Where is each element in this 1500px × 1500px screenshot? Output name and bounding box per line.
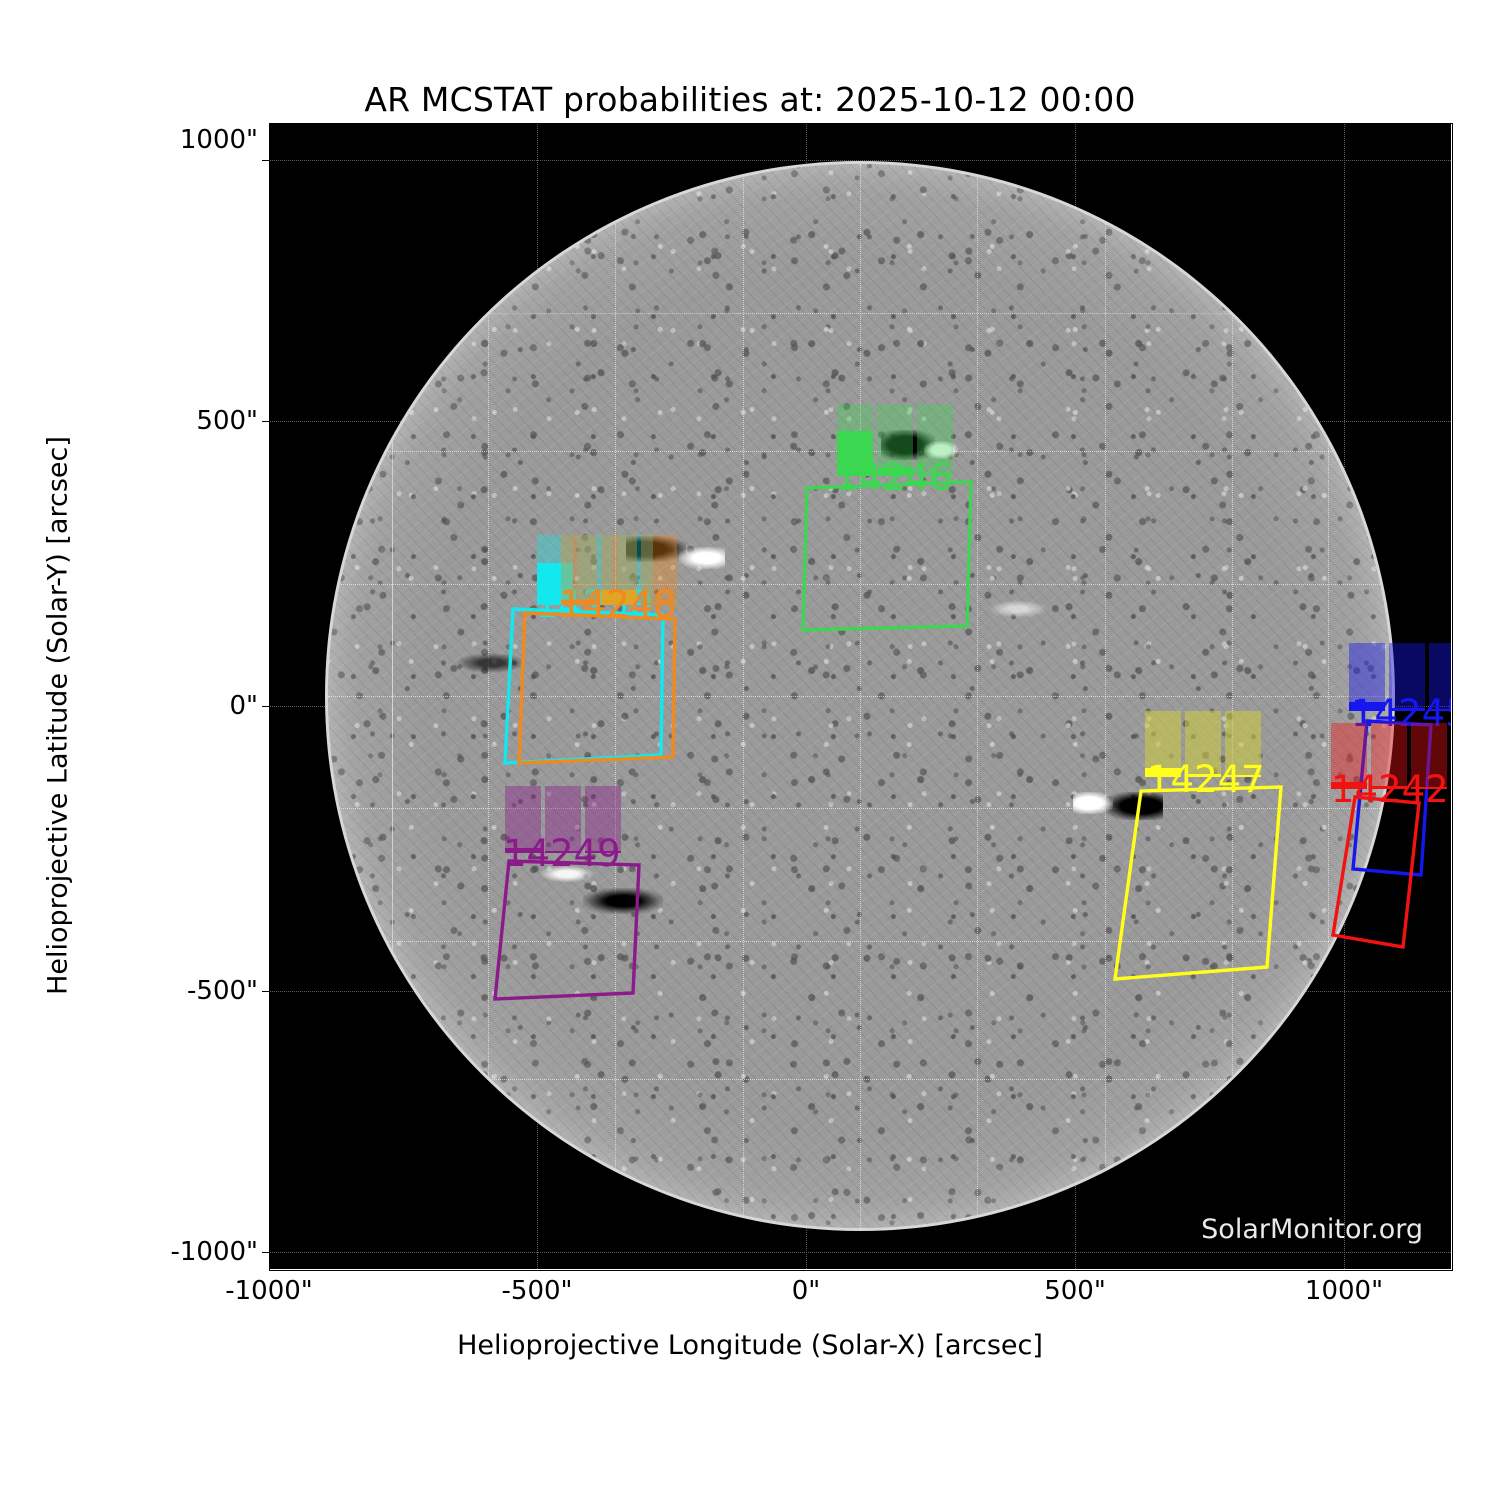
- xtick-label: 0": [792, 1276, 821, 1306]
- ytick-mark: [262, 1252, 270, 1253]
- ytick-mark: [262, 160, 270, 161]
- xtick-label: -1000": [225, 1276, 313, 1306]
- ytick-mark: [262, 991, 270, 992]
- xtick-label: 1000": [1305, 1276, 1383, 1306]
- ytick-label: -500": [187, 976, 258, 1006]
- xtick-label: 500": [1044, 1276, 1106, 1306]
- page-title: AR MCSTAT probabilities at: 2025-10-12 0…: [0, 80, 1500, 119]
- y-axis-title: Helioprojective Latitude (Solar-Y) [arcs…: [43, 366, 74, 1066]
- ar-box-14242[interactable]: [1311, 795, 1441, 955]
- ytick-label: 0": [229, 691, 258, 721]
- active-region-14242[interactable]: 14242: [269, 123, 1451, 1269]
- ytick-mark: [262, 706, 270, 707]
- solar-magnetogram-figure: AR MCSTAT probabilities at: 2025-10-12 0…: [0, 0, 1500, 1500]
- ytick-label: 1000": [180, 125, 258, 155]
- ytick-label: -1000": [170, 1237, 258, 1267]
- x-axis-title: Helioprojective Longitude (Solar-X) [arc…: [0, 1330, 1500, 1361]
- plot-area[interactable]: 14246: [269, 123, 1451, 1269]
- ytick-mark: [262, 421, 270, 422]
- ytick-label: 500": [196, 406, 258, 436]
- watermark: SolarMonitor.org: [1201, 1214, 1423, 1245]
- xtick-label: -500": [502, 1276, 573, 1306]
